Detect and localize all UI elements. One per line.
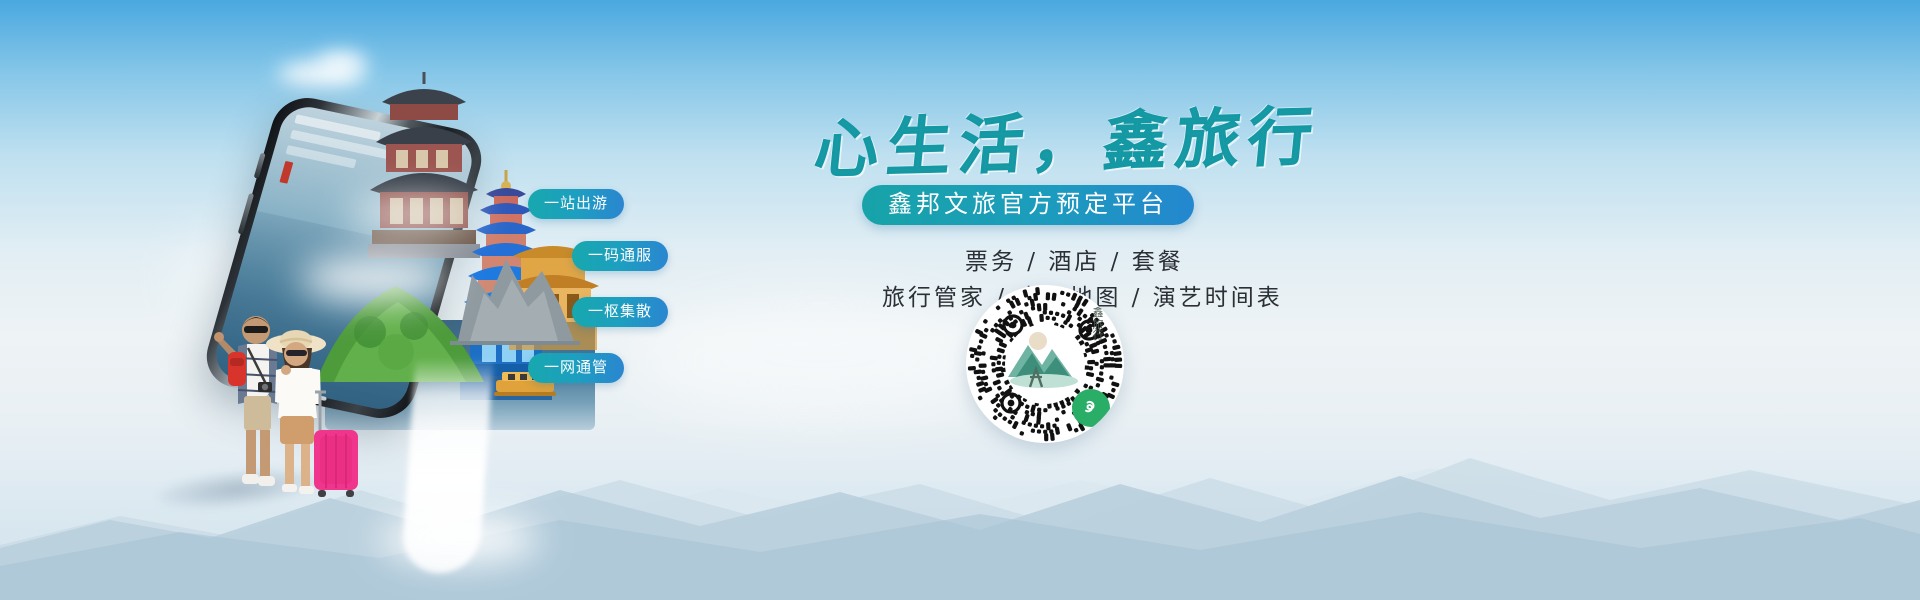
promo-text-block: 心生活，鑫旅行 鑫邦文旅官方预定平台 票务 / 酒店 / 套餐 旅行管家 / 电… <box>800 80 1500 560</box>
feature-pill-label: 一枢集散 <box>588 303 652 320</box>
feature-pill-label: 一网通管 <box>544 359 608 376</box>
service-line-primary: 票务 / 酒店 / 套餐 <box>965 242 1184 276</box>
pink-suitcase <box>312 428 360 500</box>
wechat-miniprogram-badge-icon <box>1072 389 1110 427</box>
feature-pill-one-stop-travel[interactable]: 一站出游 <box>528 189 624 219</box>
mist-lower <box>380 515 540 563</box>
feature-pill-one-code-service[interactable]: 一码通服 <box>572 241 668 271</box>
feature-pill-label: 一站出游 <box>544 195 608 212</box>
feature-pill-label: 一码通服 <box>588 247 652 264</box>
feature-pill-one-hub-transfer[interactable]: 一枢集散 <box>572 297 668 327</box>
phone-volume-button <box>254 153 266 179</box>
subtitle-badge[interactable]: 鑫邦文旅官方预定平台 <box>862 185 1194 225</box>
travelers-group <box>196 300 356 540</box>
qr-brand-text: 鑫旅行 <box>1092 307 1104 342</box>
qr-code-circle[interactable]: 鑫旅行 <box>966 285 1124 443</box>
subtitle-badge-label: 鑫邦文旅官方预定平台 <box>888 191 1168 218</box>
qr-code-wrapper[interactable]: 鑫旅行 <box>966 285 1124 443</box>
mist-upper <box>348 196 478 232</box>
headline-slogan: 心生活，鑫旅行 <box>811 85 1325 190</box>
feature-pill-list: 一站出游 一码通服 一枢集散 一网通管 <box>520 185 740 395</box>
feature-pill-one-net-management[interactable]: 一网通管 <box>528 353 624 383</box>
qr-brand-logo <box>1000 325 1092 395</box>
mist-mid <box>300 256 450 302</box>
promo-banner: 一站出游 一码通服 一枢集散 一网通管 心生活，鑫旅行 鑫邦文旅官方预定平台 票… <box>0 0 1920 600</box>
